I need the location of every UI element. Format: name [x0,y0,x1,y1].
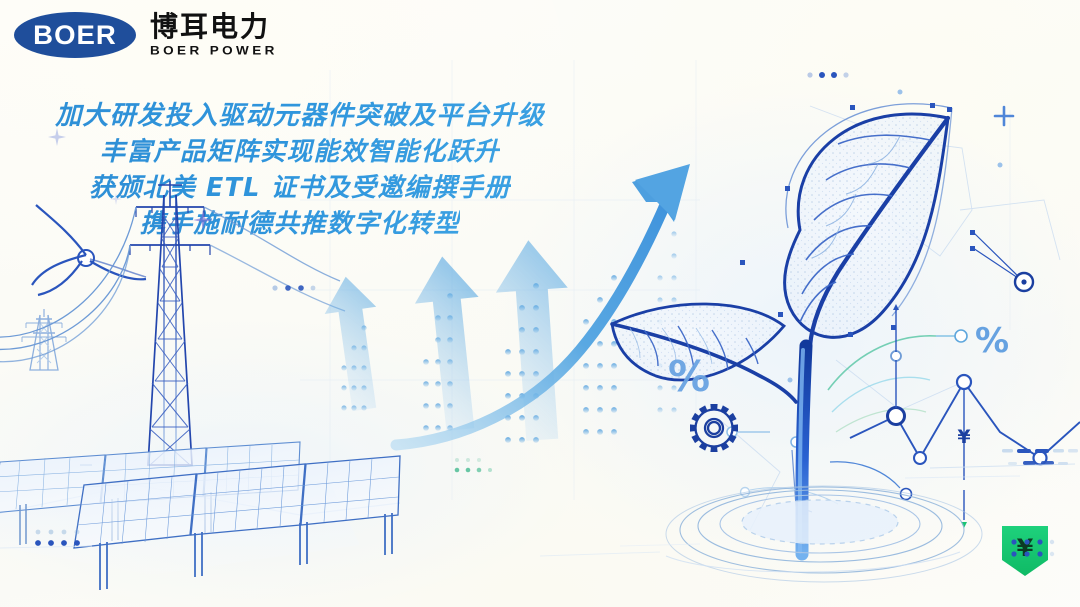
sparkle-icon-2 [193,210,213,230]
decor-lines [0,0,1080,607]
sparkle-icon-3 [110,193,122,205]
banner-canvas: BOER 博耳电力 BOER POWER 加大研发投入驱动元器件突破及平台升级 … [0,0,1080,607]
sparkle-icon-1 [48,128,66,146]
